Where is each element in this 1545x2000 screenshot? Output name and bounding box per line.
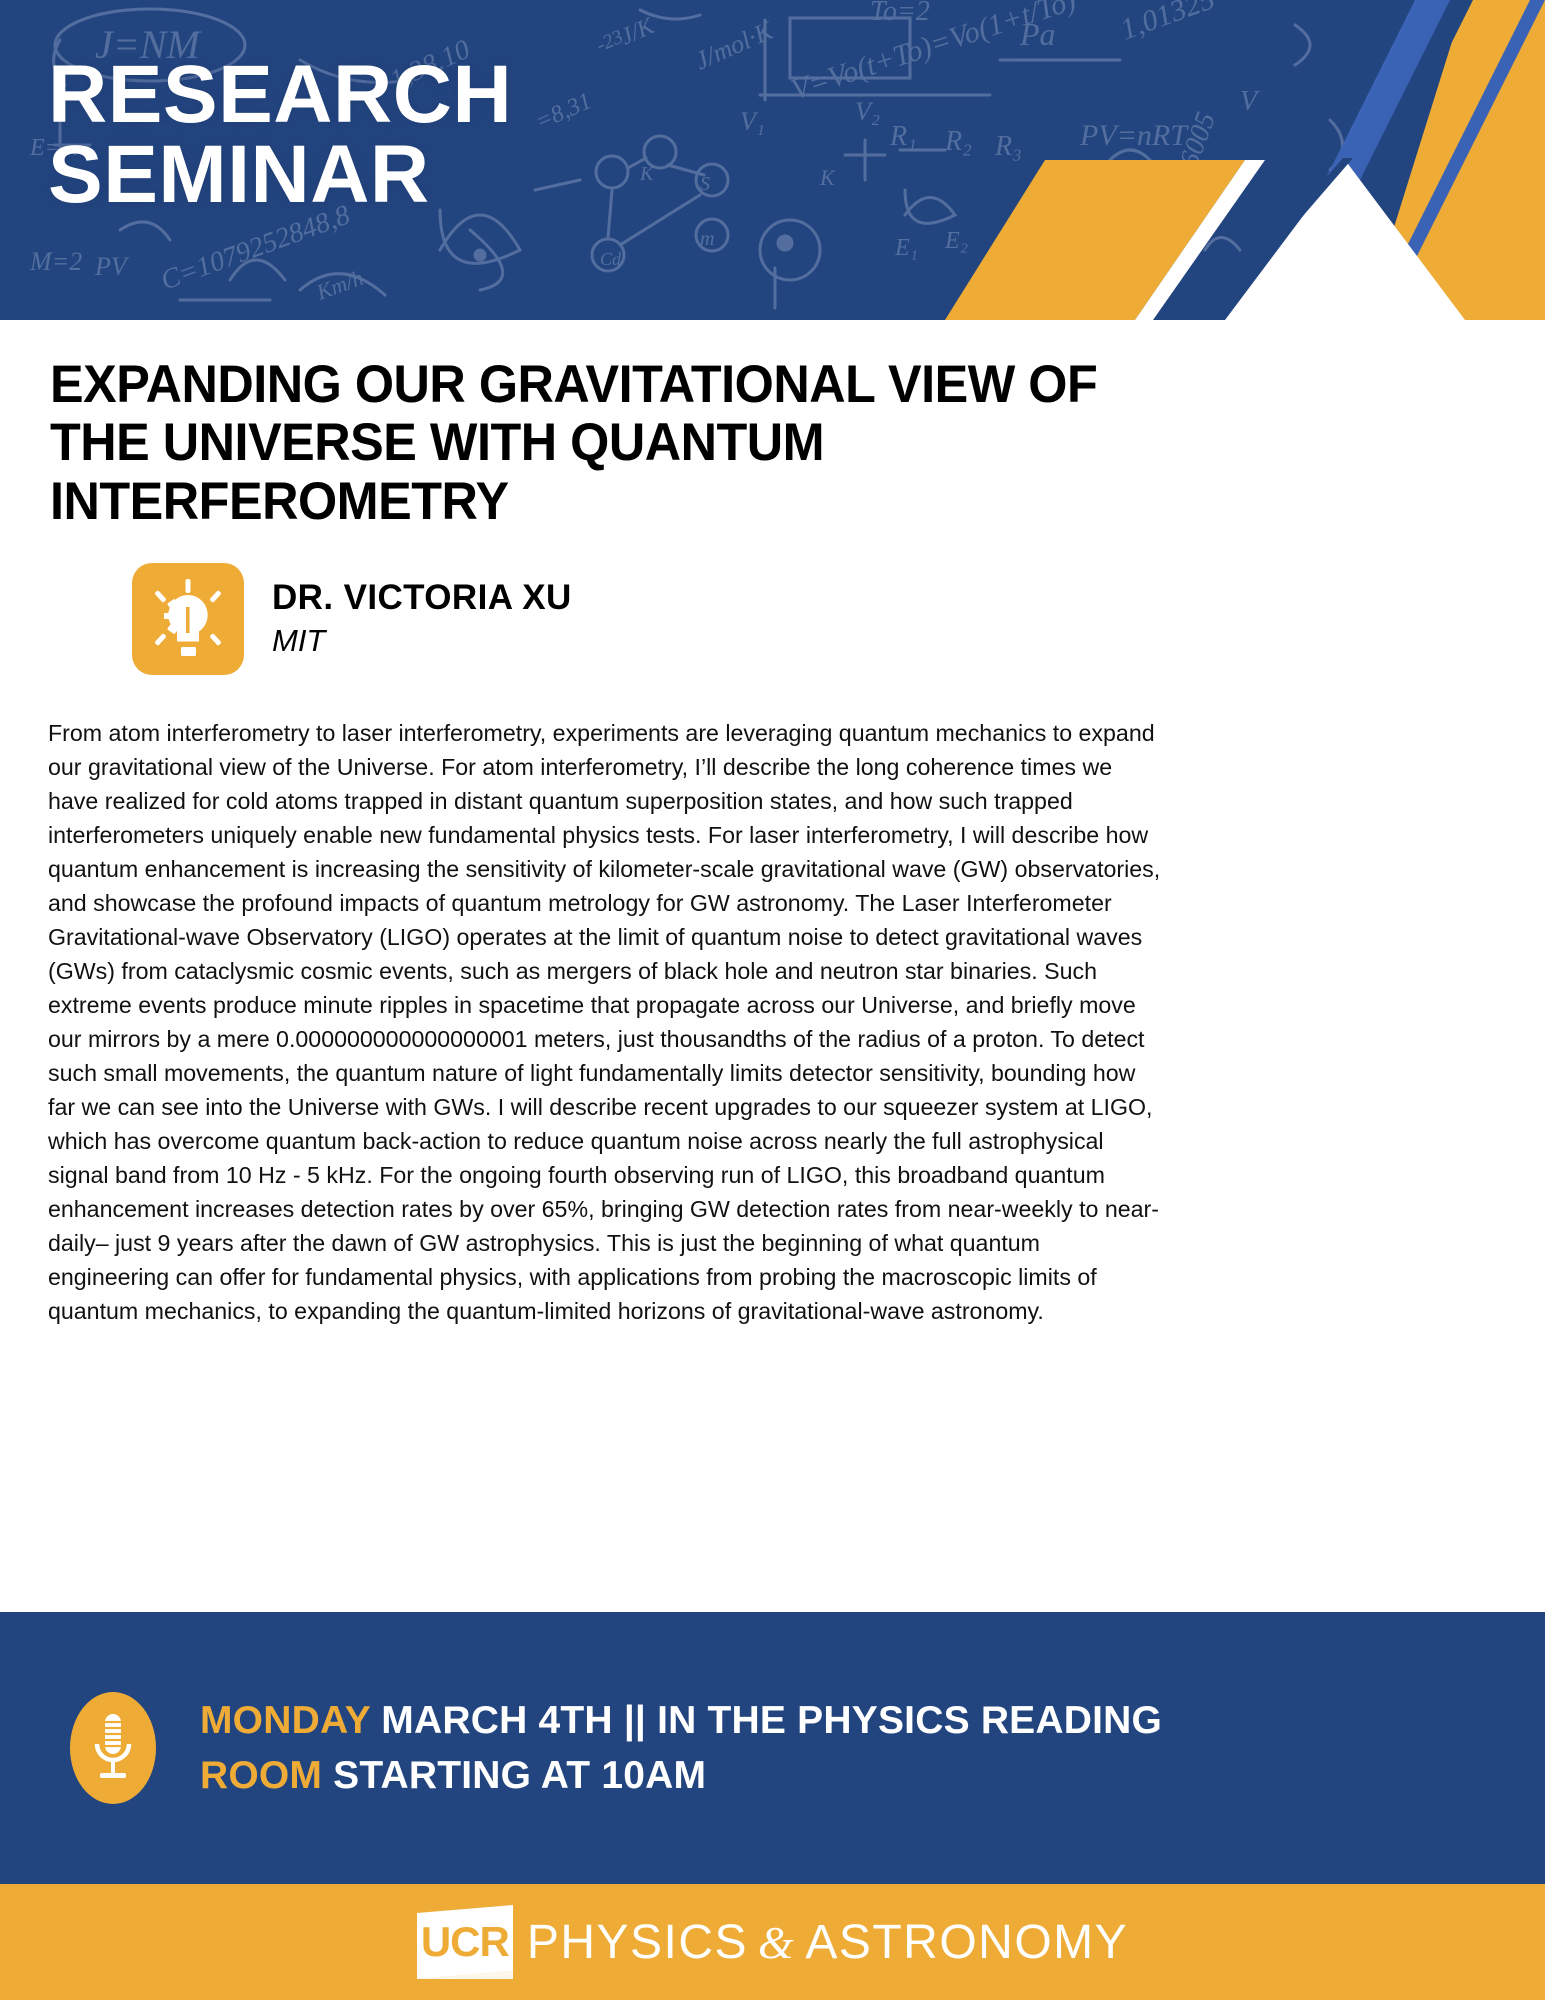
event-day: MONDAY	[200, 1699, 370, 1742]
svg-text:m: m	[700, 228, 714, 250]
header-line-1: RESEARCH	[48, 55, 512, 135]
department-wordmark: PHYSICS & ASTRONOMY	[527, 1915, 1128, 1970]
microphone-icon-container	[70, 1692, 156, 1804]
event-details-band: MONDAY MARCH 4TH || IN THE PHYSICS READI…	[0, 1612, 1545, 1884]
svg-text:V₂: V₂	[855, 97, 880, 126]
event-location-highlight: ROOM	[200, 1754, 322, 1797]
svg-text:K: K	[819, 165, 836, 190]
event-date: MARCH 4TH	[381, 1699, 612, 1742]
poster-header: J=NM 1,38.10 -23 J/K =8,31 J/mol·K To=2 …	[0, 0, 1545, 320]
speaker-affiliation: MIT	[272, 623, 572, 659]
header-line-2: SEMINAR	[48, 135, 512, 215]
svg-text:R₁: R₁	[889, 121, 917, 152]
svg-text:To=2: To=2	[870, 0, 930, 27]
speaker-text: DR. VICTORIA XU MIT	[272, 579, 572, 660]
ucr-physics-astronomy-logo: UCR PHYSICS & ASTRONOMY	[417, 1905, 1128, 1979]
ucr-logo-mark: UCR	[417, 1905, 513, 1979]
event-location-prefix: IN THE PHYSICS READING	[657, 1699, 1162, 1742]
svg-text:PV: PV	[94, 252, 130, 281]
event-time: STARTING AT 10AM	[333, 1754, 706, 1797]
svg-text:V₁: V₁	[740, 107, 765, 136]
page-title: RESEARCH SEMINAR	[48, 55, 512, 216]
svg-text:Km/h: Km/h	[312, 265, 366, 305]
talk-title: EXPANDING OUR GRAVITATIONAL VIEW OF THE …	[50, 356, 1124, 531]
header-geometric-shapes	[945, 0, 1545, 320]
speaker-icon-container	[132, 563, 244, 675]
svg-text:Cd: Cd	[600, 249, 622, 269]
dept-astronomy: ASTRONOMY	[805, 1915, 1128, 1970]
event-details-text: MONDAY MARCH 4TH || IN THE PHYSICS READI…	[200, 1693, 1250, 1804]
talk-title-block: EXPANDING OUR GRAVITATIONAL VIEW OF THE …	[50, 356, 1180, 531]
seminar-poster: J=NM 1,38.10 -23 J/K =8,31 J/mol·K To=2 …	[0, 0, 1545, 2000]
svg-text:E₁: E₁	[894, 235, 918, 261]
speaker-block: DR. VICTORIA XU MIT	[132, 563, 1545, 675]
svg-text:S: S	[700, 173, 710, 195]
footer-logo-band: UCR PHYSICS & ASTRONOMY	[0, 1884, 1545, 2000]
svg-text:K: K	[639, 163, 655, 185]
dept-physics: PHYSICS	[527, 1915, 748, 1970]
event-separator: ||	[624, 1699, 646, 1742]
lightbulb-icon	[150, 577, 226, 661]
abstract-text: From atom interferometry to laser interf…	[48, 717, 1163, 1329]
svg-text:M=2: M=2	[29, 247, 82, 276]
microphone-icon	[91, 1712, 135, 1784]
svg-text:=8,31: =8,31	[532, 88, 596, 135]
ucr-letters: UCR	[417, 1905, 513, 1979]
dept-ampersand: &	[758, 1916, 795, 1969]
speaker-name: DR. VICTORIA XU	[272, 579, 572, 618]
